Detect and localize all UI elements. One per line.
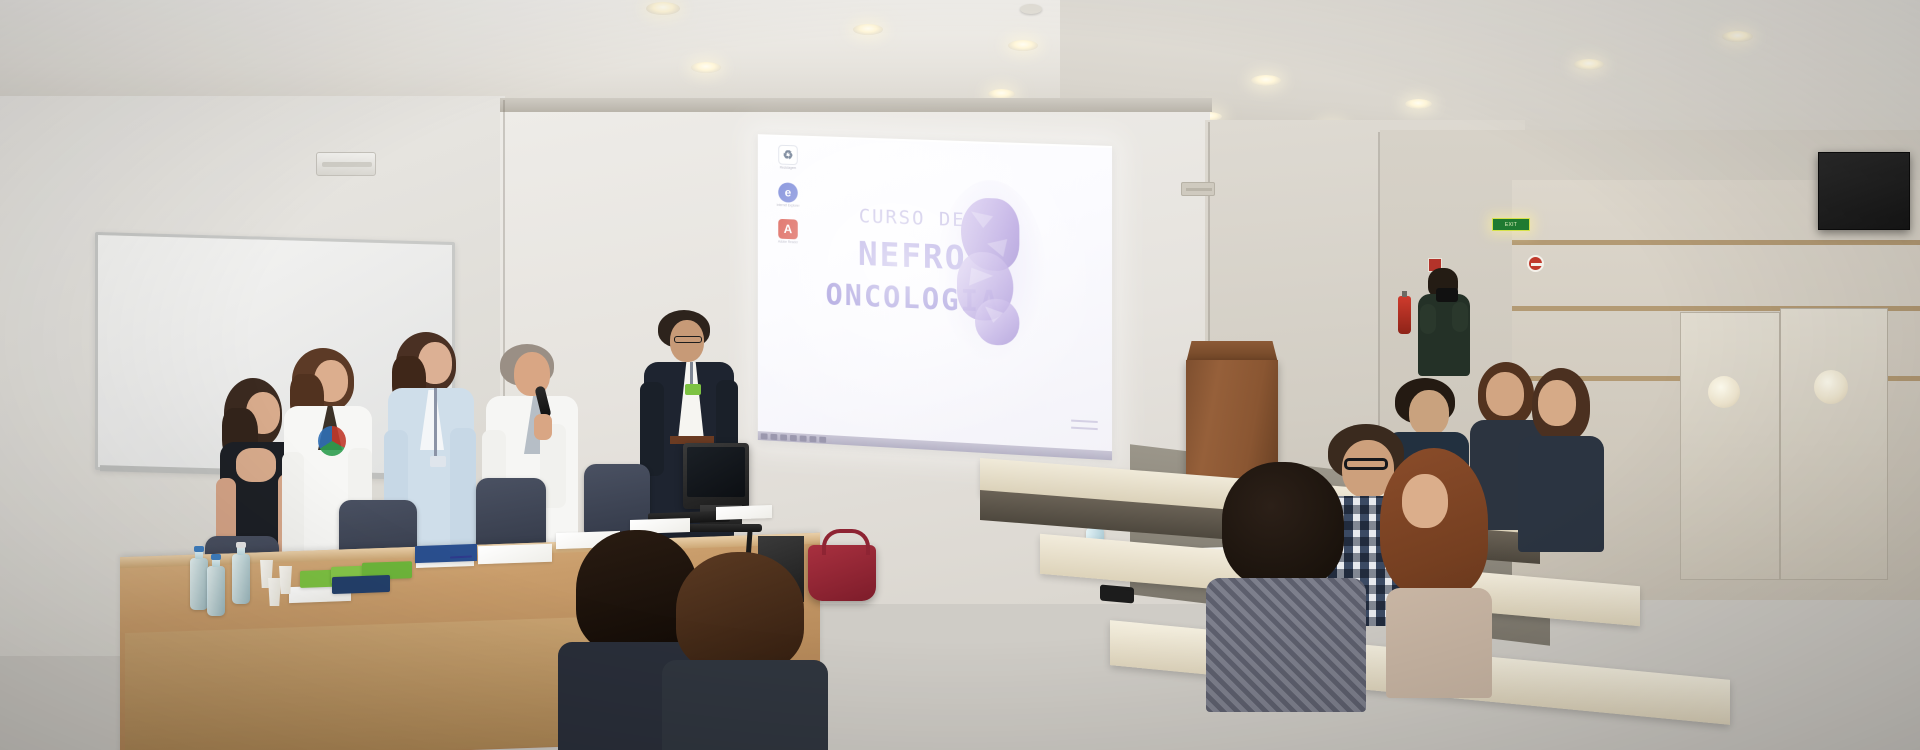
ceiling-downlight (1008, 40, 1038, 51)
water-bottle (232, 554, 250, 604)
ceiling-downlight (646, 2, 680, 15)
bottle-cap (194, 546, 204, 552)
air-vent-icon (1181, 182, 1215, 196)
exit-sign-label: EXIT (1505, 222, 1517, 228)
slide-footer-marks (1071, 415, 1098, 436)
water-bottle (190, 558, 208, 610)
ceiling-downlight (1251, 75, 1281, 86)
water-bottle (207, 566, 225, 616)
emergency-light-fixture-icon (316, 152, 376, 176)
eyeglasses-icon (1344, 458, 1388, 470)
ceiling-downlight (853, 24, 883, 35)
kidney-illustration (955, 193, 1025, 347)
recycle-bin-label: Reciclagem (768, 166, 809, 171)
wall-loudspeaker (1818, 152, 1910, 230)
desktop-icon-column: ♻ Reciclagem e Internet Explorer A Adobe… (768, 144, 809, 257)
ceiling-downlight (1574, 59, 1604, 70)
emergency-exit-sign: EXIT (1492, 218, 1530, 231)
wall-soffit (500, 98, 1212, 112)
internet-explorer-icon[interactable]: e Internet Explorer (768, 182, 809, 209)
adobe-reader-icon[interactable]: A Adobe Reader (768, 219, 809, 246)
no-entry-sign (1527, 255, 1544, 272)
internet-explorer-label: Internet Explorer (768, 203, 809, 208)
door-left[interactable] (1680, 312, 1780, 580)
smoke-detector-icon (1020, 4, 1042, 14)
door-porthole-right (1814, 370, 1848, 404)
projection-screen: ♻ Reciclagem e Internet Explorer A Adobe… (758, 134, 1112, 460)
lecture-hall-scene: ♻ Reciclagem e Internet Explorer A Adobe… (0, 0, 1920, 750)
bottle-cap (211, 554, 221, 560)
smartphone[interactable] (1100, 585, 1134, 604)
name-badge (685, 384, 701, 395)
lanyard (434, 388, 437, 458)
handout-paper (716, 505, 772, 520)
name-badge (430, 456, 446, 467)
hospital-logo-patch (318, 426, 346, 456)
handout-paper (478, 544, 552, 565)
blue-notebook (415, 544, 477, 563)
adobe-reader-label: Adobe Reader (768, 240, 809, 245)
ceiling-downlight (1405, 99, 1432, 109)
door-right[interactable] (1780, 308, 1888, 580)
recycle-bin-icon[interactable]: ♻ Reciclagem (768, 144, 809, 171)
red-handbag (808, 545, 876, 601)
speaker-podium[interactable]: M (1186, 360, 1278, 478)
eyeglasses-icon (674, 336, 702, 343)
presenter-monitor[interactable] (683, 443, 749, 509)
door-porthole-left (1708, 376, 1740, 408)
ceiling-downlight (1722, 31, 1753, 42)
ceiling-downlight (691, 62, 721, 73)
conference-folder (332, 575, 390, 594)
bottle-cap (236, 542, 246, 548)
fire-extinguisher-icon (1398, 296, 1411, 334)
camera-icon (1436, 288, 1458, 302)
